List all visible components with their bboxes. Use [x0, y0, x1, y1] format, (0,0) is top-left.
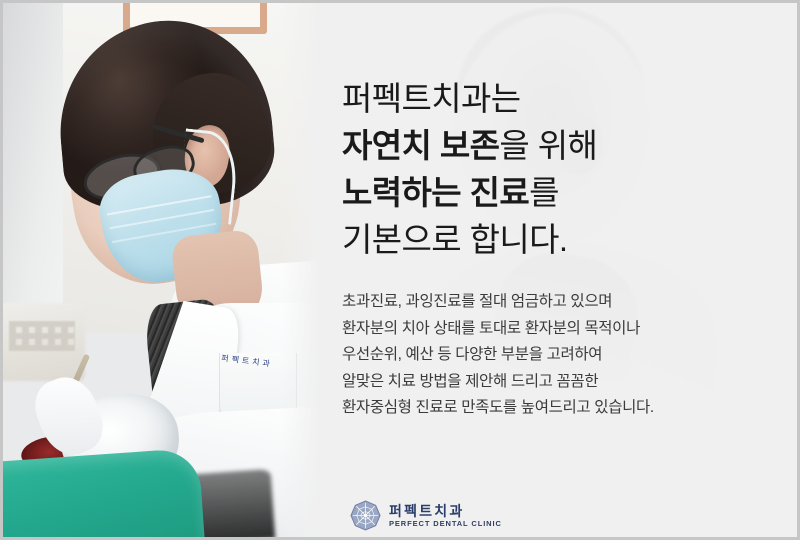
- body-paragraph: 초과진료, 과잉진료를 절대 엄금하고 있으며 환자분의 치아 상태를 토대로 …: [342, 289, 782, 422]
- headline-line-2-rest: 을 위해: [499, 127, 597, 164]
- copy-column: 퍼펙트치과는 자연치 보존을 위해 노력하는 진료를 기본으로 합니다. 초과진…: [342, 3, 782, 540]
- headline-line-1: 퍼펙트치과는: [342, 75, 782, 122]
- clinic-logo: 퍼펙트치과 PERFECT DENTAL CLINIC: [350, 500, 502, 531]
- body-line-2: 환자분의 치아 상태를 토대로 환자분의 목적이나: [342, 316, 782, 343]
- promo-banner: 퍼펙트치과 퍼펙트치과는 자연치 보존을 위해 노력하는 진료를 기본으로 합니…: [0, 0, 800, 540]
- equipment-keypad: [9, 321, 75, 351]
- logo-name-english: PERFECT DENTAL CLINIC: [389, 520, 502, 528]
- logo-text-block: 퍼펙트치과 PERFECT DENTAL CLINIC: [389, 504, 502, 528]
- body-line-3: 우선순위, 예산 등 다양한 부분을 고려하여: [342, 342, 782, 369]
- headline: 퍼펙트치과는 자연치 보존을 위해 노력하는 진료를 기본으로 합니다.: [342, 75, 782, 263]
- headline-line-3: 노력하는 진료를: [342, 169, 782, 216]
- photo-fade-edge: [281, 3, 323, 537]
- dentist-photo: 퍼펙트치과: [3, 3, 323, 537]
- headline-line-3-emphasis: 노력하는 진료: [342, 174, 529, 211]
- headline-line-2-emphasis: 자연치 보존: [342, 127, 499, 164]
- headline-line-4: 기본으로 합니다.: [342, 216, 782, 263]
- perfect-dental-emblem-icon: [350, 500, 381, 531]
- body-line-4: 알맞은 치료 방법을 제안해 드리고 꼼꼼한: [342, 369, 782, 396]
- headline-line-2: 자연치 보존을 위해: [342, 122, 782, 169]
- headline-line-3-rest: 를: [529, 174, 559, 211]
- body-line-5: 환자중심형 진료로 만족도를 높여드리고 있습니다.: [342, 395, 782, 422]
- logo-name-korean: 퍼펙트치과: [389, 504, 502, 518]
- body-line-1: 초과진료, 과잉진료를 절대 엄금하고 있으며: [342, 289, 782, 316]
- green-surgical-drape: [3, 448, 205, 537]
